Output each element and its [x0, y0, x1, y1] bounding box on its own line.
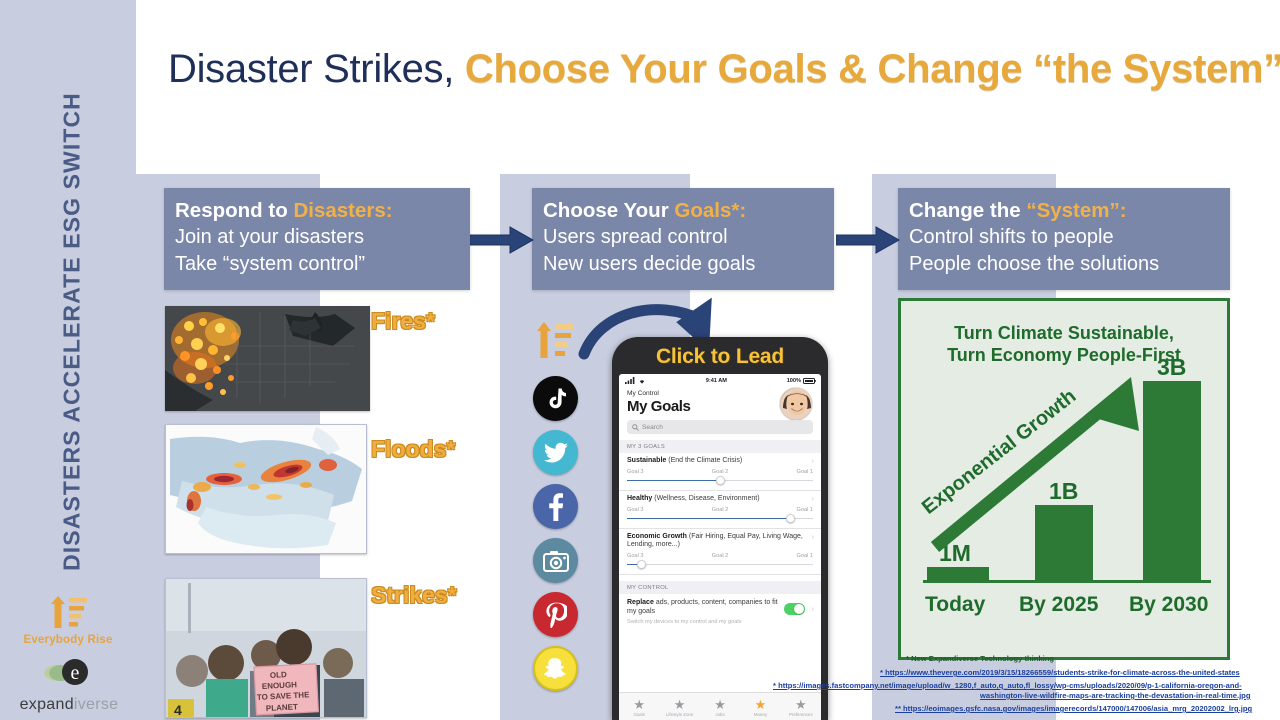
cat-label-by-2025: By 2025	[1019, 593, 1098, 617]
social-item-twitter[interactable]	[533, 430, 578, 475]
goal-row-sustainable[interactable]: Sustainable (End the Climate Crisis) › G…	[619, 453, 821, 491]
pinterest-icon	[533, 592, 578, 637]
goal-1-tick-3: Goal 3	[627, 469, 643, 475]
expandiverse-label-bold: expand	[20, 696, 74, 713]
tab-money-label: Money	[740, 712, 780, 717]
page-title-dark: Disaster Strikes,	[168, 47, 465, 91]
footnote-c[interactable]: * https://images.fastcompany.net/image/u…	[773, 681, 1242, 691]
goal-2-name: Healthy	[627, 495, 652, 502]
social-item-snapchat[interactable]	[533, 646, 578, 691]
goal-1-ticks: Goal 3 Goal 2 Goal 1	[627, 469, 813, 475]
chevron-right-icon-4: ›	[812, 606, 814, 613]
twitter-icon	[533, 430, 578, 475]
instagram-icon	[533, 538, 578, 583]
svg-text:OLD: OLD	[270, 670, 288, 680]
bar-label-by-2030: 3B	[1157, 354, 1186, 381]
goal-2-tick-2: Goal 2	[712, 507, 728, 513]
goal-1-name: Sustainable	[627, 457, 666, 464]
goal-2-ticks: Goal 3 Goal 2 Goal 1	[627, 507, 813, 513]
phone-status-bar: 9:41 AM 100%	[619, 374, 821, 385]
expandiverse-mark-icon: e	[41, 656, 97, 690]
facebook-icon	[533, 484, 578, 529]
replace-toggle[interactable]	[784, 603, 805, 615]
disaster-image-floods	[165, 424, 367, 554]
column-header-respond: Respond to Disasters: Join at your disas…	[164, 188, 470, 290]
social-item-pinterest[interactable]	[533, 592, 578, 637]
goals-section-header: MY 3 GOALS	[619, 440, 821, 453]
slide-canvas: DISASTERS ACCELERATE ESG SWITCH Everybod…	[0, 0, 1280, 720]
social-item-tiktok[interactable]	[533, 376, 578, 421]
social-item-facebook[interactable]	[533, 484, 578, 529]
goal-1-tick-2: Goal 2	[712, 469, 728, 475]
social-icon-column	[533, 320, 578, 700]
star-icon-3: ★	[700, 698, 740, 711]
chart-plot-area: 1M 1B 3B Today By 2025 By 2030 Exponenti…	[901, 367, 1227, 625]
goal-2-slider[interactable]	[627, 514, 813, 523]
everybody-rise-label: Everybody Rise	[22, 634, 114, 646]
phone-banner-click-to-lead: Click to Lead	[619, 345, 821, 369]
column-3-heading-gold: “System”:	[1026, 199, 1126, 222]
tiktok-icon	[533, 376, 578, 421]
search-icon	[632, 424, 639, 431]
status-battery-pct: 100%	[787, 378, 801, 384]
page-title: Disaster Strikes, Choose Your Goals & Ch…	[168, 47, 1280, 92]
column-1-heading-white: Respond to	[175, 199, 293, 222]
goal-3-tick-3: Goal 3	[627, 553, 643, 559]
page-title-gold: Choose Your Goals & Change “the System”*	[465, 47, 1280, 91]
tab-money[interactable]: ★ Money	[740, 698, 780, 717]
goal-row-healthy[interactable]: Healthy (Wellness, Disease, Environment)…	[619, 491, 821, 529]
star-icon-2: ★	[659, 698, 699, 711]
column-3-line3: People choose the solutions	[909, 251, 1230, 278]
goal-1-slider-knob[interactable]	[716, 476, 725, 485]
column-2-heading-white: Choose Your	[543, 199, 674, 222]
sidebar-vertical-title: DISASTERS ACCELERATE ESG SWITCH	[59, 22, 86, 642]
svg-text:4: 4	[174, 702, 182, 717]
avatar[interactable]	[779, 387, 813, 421]
tab-lifestyle-label: Lifestyle Zone	[659, 712, 699, 717]
control-section-header: MY CONTROL	[619, 581, 821, 594]
column-1-heading-gold: Disasters:	[293, 199, 392, 222]
bar-today	[927, 567, 989, 581]
status-right: 100%	[787, 378, 815, 384]
avatar-photo-icon	[780, 388, 813, 421]
star-icon-4: ★	[740, 698, 780, 711]
column-header-choose: Choose Your Goals*: Users spread control…	[532, 188, 834, 290]
expandiverse-label-dim: iverse	[74, 696, 118, 713]
goal-2-slider-fill	[627, 518, 791, 519]
column-header-change: Change the “System”: Control shifts to p…	[898, 188, 1230, 290]
star-icon-1: ★	[619, 698, 659, 711]
goal-3-name: Economic Growth	[627, 533, 687, 540]
column-1-line2: Join at your disasters	[175, 224, 470, 251]
footnote-b[interactable]: * https://www.theverge.com/2019/3/15/182…	[880, 668, 1240, 678]
goal-3-tick-2: Goal 2	[712, 553, 728, 559]
footnote-d[interactable]: washington-live-wildfire-maps-are-tracki…	[980, 691, 1250, 701]
chevron-right-icon-2: ›	[812, 496, 814, 503]
growth-chart-card: Turn Climate Sustainable, Turn Economy P…	[898, 298, 1230, 660]
arrow-right-icon-2	[836, 226, 900, 256]
column-3-heading: Change the “System”:	[909, 200, 1230, 223]
tab-jobs[interactable]: ★ Jobs	[700, 698, 740, 717]
disaster-image-strikes: OLD ENOUGH TO SAVE THE PLANET 4	[165, 578, 367, 718]
disaster-label-floods: Floods*	[371, 436, 455, 463]
goal-3-slider-knob[interactable]	[637, 560, 646, 569]
cat-label-today: Today	[925, 593, 985, 617]
goal-3-ticks: Goal 3 Goal 2 Goal 1	[627, 553, 813, 559]
tab-preferences-label: Preferences	[781, 712, 821, 717]
chevron-right-icon-1: ›	[812, 458, 814, 465]
column-1-heading: Respond to Disasters:	[175, 200, 470, 223]
svg-text:ENOUGH: ENOUGH	[262, 680, 298, 691]
goal-3-title: Economic Growth (Fair Hiring, Equal Pay,…	[627, 533, 813, 551]
expandiverse-logo: e expandiverse	[14, 656, 124, 714]
search-placeholder-text: Search	[642, 424, 663, 431]
flood-heatmap-asia-icon	[166, 425, 366, 553]
arrow-right-icon-1	[470, 226, 534, 256]
goal-2-detail: (Wellness, Disease, Environment)	[654, 495, 759, 502]
chevron-right-icon-3: ›	[812, 534, 814, 541]
tab-goals-label: Goals	[619, 712, 659, 717]
wifi-icon	[638, 377, 646, 384]
column-3-line2: Control shifts to people	[909, 224, 1230, 251]
chart-title-line-1: Turn Climate Sustainable,	[907, 323, 1221, 345]
footnote-a: * New Expandiverse Technology thinking	[906, 654, 1054, 664]
svg-text:PLANET: PLANET	[266, 702, 299, 713]
column-2-line3: New users decide goals	[543, 251, 834, 278]
social-item-instagram[interactable]	[533, 538, 578, 583]
tab-jobs-label: Jobs	[700, 712, 740, 717]
status-left	[625, 377, 646, 384]
tab-lifestyle-zone[interactable]: ★ Lifestyle Zone	[659, 698, 699, 717]
svg-text:e: e	[71, 662, 80, 684]
expandiverse-label: expandiverse	[14, 696, 124, 714]
goal-3-tick-1: Goal 1	[797, 553, 813, 559]
phone-nav-header: My Control My Goals	[619, 385, 821, 415]
goal-2-tick-3: Goal 3	[627, 507, 643, 513]
status-time: 9:41 AM	[706, 378, 727, 384]
goal-2-tick-1: Goal 1	[797, 507, 813, 513]
goal-row-economic-growth[interactable]: Economic Growth (Fair Hiring, Equal Pay,…	[619, 529, 821, 576]
climate-strike-protest-icon: OLD ENOUGH TO SAVE THE PLANET 4	[166, 579, 366, 717]
column-1-line3: Take “system control”	[175, 251, 470, 278]
battery-icon	[803, 378, 815, 384]
goal-2-slider-knob[interactable]	[786, 514, 795, 523]
tab-preferences[interactable]: ★ Preferences	[781, 698, 821, 717]
phone-tab-bar: ★ Goals ★ Lifestyle Zone ★ Jobs ★ Money …	[619, 692, 821, 720]
everybody-rise-mark-icon	[45, 592, 91, 632]
cat-label-by-2030: By 2030	[1129, 593, 1208, 617]
phone-mockup: Click to Lead 9:41 AM 100%	[612, 337, 828, 720]
tab-goals[interactable]: ★ Goals	[619, 698, 659, 717]
disaster-label-fires: Fires*	[371, 308, 435, 335]
goal-3-slider[interactable]	[627, 560, 813, 569]
goal-1-detail: (End the Climate Crisis)	[668, 457, 742, 464]
wildfire-satellite-map-icon	[165, 306, 370, 411]
signal-bars-icon	[625, 377, 636, 384]
snapchat-icon	[533, 646, 578, 691]
goal-1-slider[interactable]	[627, 476, 813, 485]
search-input[interactable]: Search	[627, 420, 813, 434]
goal-1-slider-fill	[627, 480, 720, 481]
goal-1-title: Sustainable (End the Climate Crisis)	[627, 457, 813, 466]
exponential-growth-arrow-icon	[921, 369, 1161, 559]
column-2-heading: Choose Your Goals*:	[543, 200, 834, 223]
goal-2-title: Healthy (Wellness, Disease, Environment)	[627, 495, 813, 504]
column-2-heading-gold: Goals*:	[674, 199, 746, 222]
column-3-heading-white: Change the	[909, 199, 1026, 222]
control-sub: Switch my devices to my control and my g…	[627, 619, 813, 625]
goal-1-tick-1: Goal 1	[797, 469, 813, 475]
column-2-line2: Users spread control	[543, 224, 834, 251]
control-row-replace[interactable]: Replace ads, products, content, companie…	[619, 594, 821, 629]
star-icon-5: ★	[781, 698, 821, 711]
social-item-everybody-rise[interactable]	[533, 320, 578, 367]
footnote-e[interactable]: ** https://eoimages.gsfc.nasa.gov/images…	[895, 704, 1252, 714]
goal-3-slider-track	[627, 564, 813, 565]
disaster-image-fires	[165, 306, 370, 411]
phone-screen: 9:41 AM 100% My Control My Goals	[619, 374, 821, 720]
everybody-rise-logo-icon	[533, 320, 578, 362]
everybody-rise-logo: Everybody Rise	[22, 592, 114, 646]
control-name: Replace	[627, 599, 654, 606]
disaster-label-strikes: Strikes*	[371, 582, 457, 609]
